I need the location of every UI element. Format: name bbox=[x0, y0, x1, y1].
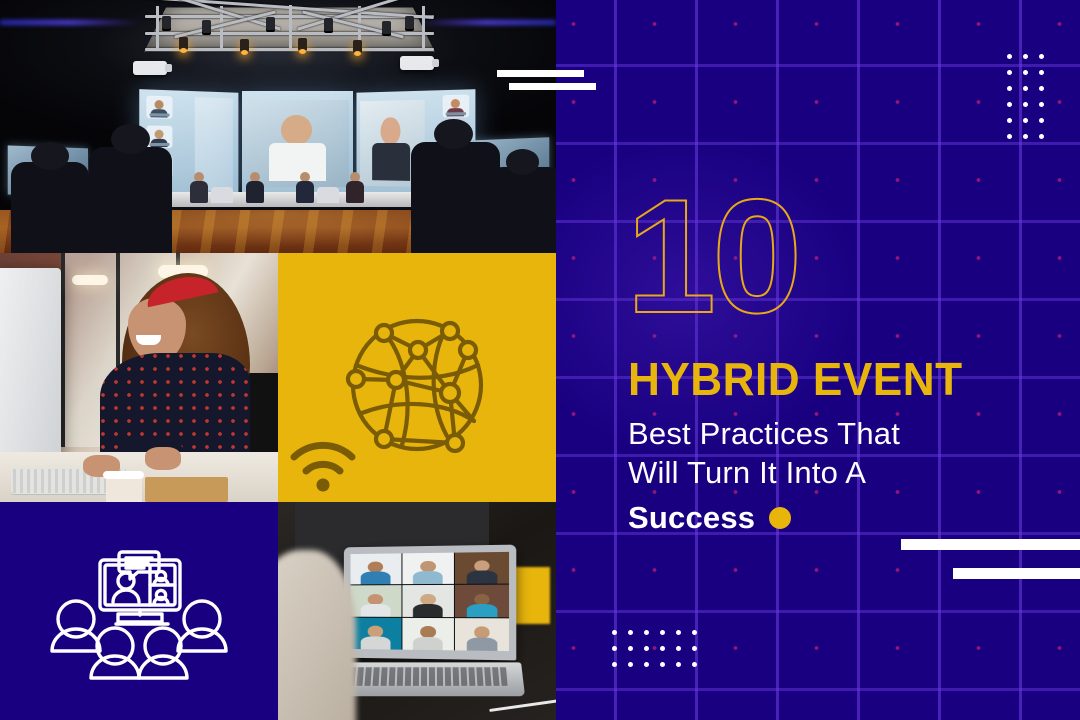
bar-bottom-right-2 bbox=[953, 568, 1080, 579]
foreground-blur bbox=[278, 550, 356, 720]
panelist bbox=[245, 172, 265, 208]
smile bbox=[136, 335, 161, 345]
decor-dot bbox=[692, 662, 697, 667]
network-globe-tile bbox=[278, 253, 556, 502]
wifi-icon bbox=[294, 445, 352, 471]
decor-dot bbox=[1023, 54, 1028, 59]
decor-dot bbox=[1007, 86, 1012, 91]
decor-dot bbox=[644, 646, 649, 651]
network-globe-icon bbox=[278, 253, 556, 502]
decor-dot bbox=[1023, 134, 1028, 139]
decor-dot bbox=[644, 662, 649, 667]
video-conference-icon bbox=[0, 502, 278, 720]
decor-dot bbox=[1039, 70, 1044, 75]
headline-content: 10 HYBRID EVENT Best Practices That Will… bbox=[626, 0, 1066, 536]
projector-right bbox=[400, 56, 434, 70]
stage-light-beam-right bbox=[417, 20, 556, 25]
stage-lamp bbox=[179, 37, 188, 50]
decor-dot bbox=[660, 630, 665, 635]
call-participant bbox=[351, 617, 402, 649]
decor-dot bbox=[628, 662, 633, 667]
gold-dot bbox=[769, 507, 791, 529]
decor-dot bbox=[1007, 118, 1012, 123]
panelist bbox=[295, 172, 315, 208]
bar-bottom-right-1 bbox=[901, 539, 1080, 550]
audience-member bbox=[489, 167, 556, 253]
decor-dot bbox=[612, 646, 617, 651]
decor-dot bbox=[1023, 86, 1028, 91]
number-10: 10 bbox=[626, 0, 1066, 338]
page-title: HYBRID EVENT bbox=[628, 356, 1048, 402]
laptop-video-call-photo bbox=[278, 502, 556, 720]
decor-dot bbox=[676, 662, 681, 667]
headline-panel: 10 HYBRID EVENT Best Practices That Will… bbox=[556, 0, 1080, 720]
call-participant bbox=[402, 552, 454, 584]
decor-dot bbox=[628, 630, 633, 635]
decor-dot bbox=[1039, 54, 1044, 59]
decor-dot bbox=[676, 630, 681, 635]
notebook bbox=[145, 477, 228, 502]
call-participant bbox=[455, 585, 509, 617]
image-collage bbox=[0, 0, 556, 720]
decor-dot bbox=[1007, 54, 1012, 59]
lighting-truss bbox=[145, 5, 434, 66]
poster-canvas: 10 HYBRID EVENT Best Practices That Will… bbox=[0, 0, 1080, 720]
decor-dot bbox=[1007, 70, 1012, 75]
stage-chair bbox=[317, 187, 339, 203]
call-participant bbox=[351, 553, 402, 585]
bar-top-2 bbox=[509, 83, 596, 90]
desktop-monitor bbox=[0, 268, 61, 462]
virtual-meeting-icon-tile bbox=[0, 502, 278, 720]
call-participant bbox=[402, 585, 454, 617]
dot-grid-bottom-left bbox=[612, 630, 697, 667]
call-participant bbox=[351, 585, 402, 616]
laptop bbox=[334, 546, 523, 699]
decor-dot bbox=[1039, 134, 1044, 139]
decor-dot bbox=[1023, 70, 1028, 75]
decor-dot bbox=[1039, 118, 1044, 123]
subtitle: Best Practices That Will Turn It Into A bbox=[628, 414, 1066, 492]
subtitle-line-2: Will Turn It Into A bbox=[628, 453, 1066, 492]
ceiling-light bbox=[72, 275, 108, 285]
stage-light-beam-left bbox=[0, 20, 139, 25]
stage-chair bbox=[211, 187, 233, 203]
decor-dot bbox=[1039, 86, 1044, 91]
audience-member bbox=[411, 142, 500, 253]
audience-member bbox=[11, 162, 89, 253]
laptop-screen bbox=[344, 544, 516, 660]
decor-dot bbox=[1007, 102, 1012, 107]
hybrid-conference-stage-photo bbox=[0, 0, 556, 253]
bar-top-1 bbox=[497, 70, 584, 77]
dot-grid-top-right bbox=[1007, 54, 1044, 139]
wifi-dot bbox=[317, 479, 330, 492]
panelist bbox=[345, 172, 365, 208]
decor-dot bbox=[644, 630, 649, 635]
call-participant bbox=[455, 618, 509, 651]
call-participant bbox=[402, 618, 454, 650]
audience-member bbox=[89, 147, 172, 253]
success-row: Success bbox=[628, 500, 1066, 536]
decor-dot bbox=[628, 646, 633, 651]
decor-dot bbox=[1007, 134, 1012, 139]
call-participant bbox=[455, 551, 509, 584]
laptop-keyboard-base bbox=[332, 662, 525, 696]
decor-dot bbox=[660, 646, 665, 651]
projector-left bbox=[133, 61, 167, 75]
woman-at-computer-photo bbox=[0, 253, 278, 502]
decor-dot bbox=[1023, 118, 1028, 123]
hand-on-mouse bbox=[145, 447, 181, 469]
decor-dot bbox=[1023, 102, 1028, 107]
decor-dot bbox=[660, 662, 665, 667]
emphasis-word: Success bbox=[628, 500, 755, 536]
video-call-grid bbox=[351, 551, 510, 650]
decor-dot bbox=[612, 630, 617, 635]
decor-dot bbox=[612, 662, 617, 667]
decor-dot bbox=[692, 646, 697, 651]
decor-dot bbox=[692, 630, 697, 635]
coffee-cup bbox=[106, 475, 142, 502]
decor-dot bbox=[1039, 102, 1044, 107]
decor-dot bbox=[676, 646, 681, 651]
subtitle-line-1: Best Practices That bbox=[628, 414, 1066, 453]
panelist bbox=[189, 172, 209, 208]
